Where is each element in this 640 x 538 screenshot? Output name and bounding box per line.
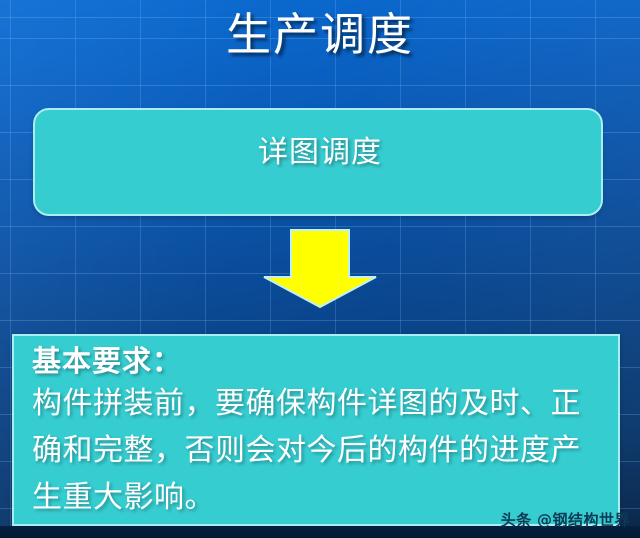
- requirements-heading: 基本要求：: [32, 342, 182, 380]
- watermark-brand: 头条: [501, 511, 532, 529]
- topic-box: 详图调度: [33, 108, 603, 216]
- requirements-box: 基本要求： 构件拼装前，要确保构件详图的及时、正确和完整，否则会对今后的构件的进…: [12, 334, 620, 526]
- requirements-body: 构件拼装前，要确保构件详图的及时、正确和完整，否则会对今后的构件的进度产生重大影…: [32, 380, 604, 521]
- watermark-handle: @钢结构世界: [537, 511, 630, 529]
- presentation-slide: 生产调度 详图调度 基本要求： 构件拼装前，要确保构件详图的及时、正确和完整，否…: [0, 0, 640, 538]
- topic-box-label: 详图调度: [35, 132, 605, 174]
- arrow-down-icon: [262, 229, 378, 309]
- page-title: 生产调度: [0, 2, 640, 68]
- watermark: 头条 @钢结构世界: [501, 510, 630, 530]
